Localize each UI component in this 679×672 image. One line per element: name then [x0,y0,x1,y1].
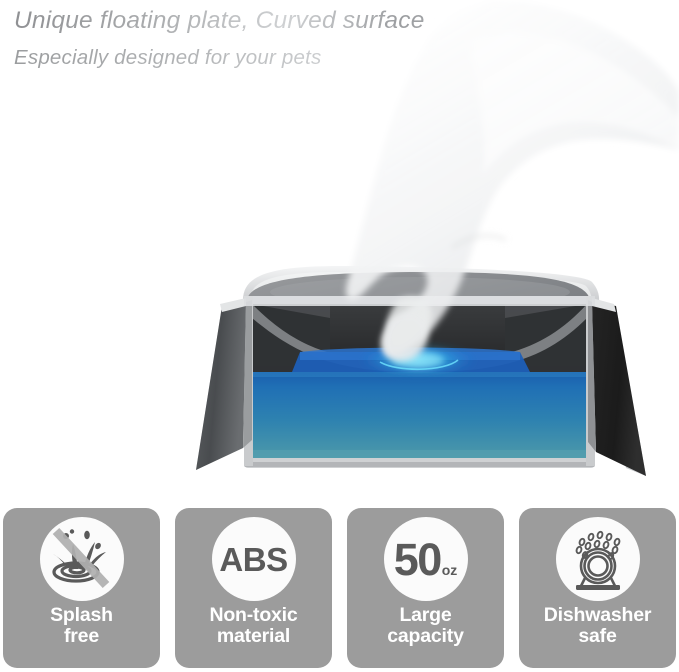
left-side-flap [196,298,252,470]
headline-primary: Unique floating plate, Curved surface [14,6,634,37]
badge-dishwasher-safe[interactable]: Dishwasher safe [519,508,676,668]
badge-icon-container [556,517,640,601]
badge-label: Dishwasher safe [544,605,651,647]
badge-icon-container: ABS [212,517,296,601]
no-splash-icon [46,523,118,595]
feature-badge-row: Splash free ABS Non-toxic material 50 oz… [0,508,679,668]
capacity-icon: 50 oz [394,537,458,582]
badge-non-toxic[interactable]: ABS Non-toxic material [175,508,332,668]
badge-label: Large capacity [387,605,463,647]
badge-large-capacity[interactable]: 50 oz Large capacity [347,508,504,668]
capacity-unit: oz [442,563,458,577]
capacity-value: 50 [394,537,441,582]
product-photo [0,0,679,500]
badge-icon-container: 50 oz [384,517,468,601]
badge-label: Splash free [50,605,113,647]
badge-label: Non-toxic material [209,605,297,647]
headline-block: Unique floating plate, Curved surface Es… [14,6,634,70]
right-side-flap [588,298,646,476]
product-marketing-image: Unique floating plate, Curved surface Es… [0,0,679,672]
dishwasher-icon [562,523,634,595]
headline-secondary: Especially designed for your pets [14,45,634,71]
product-illustration [0,0,679,500]
badge-icon-container [40,517,124,601]
abs-material-icon: ABS [219,543,287,576]
badge-splash-free[interactable]: Splash free [3,508,160,668]
